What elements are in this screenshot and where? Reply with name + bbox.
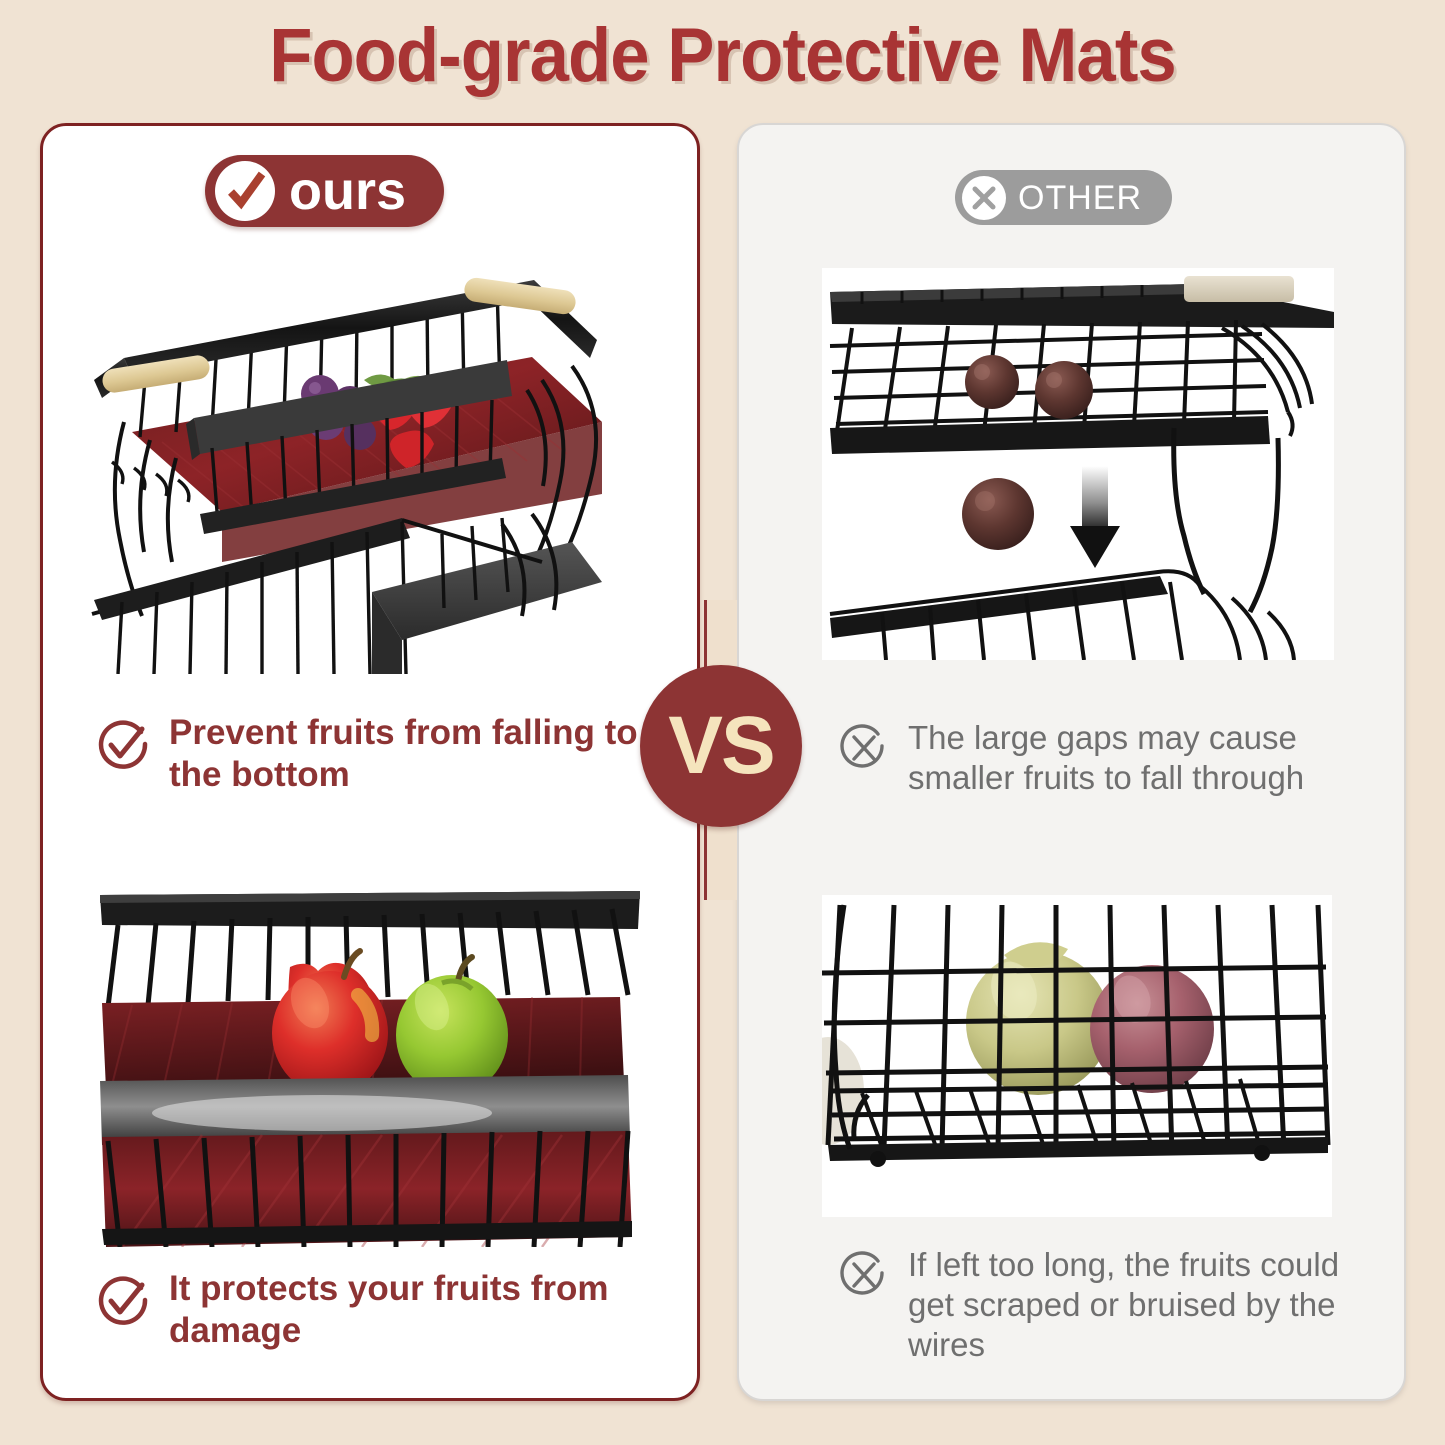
caption-protects-from-damage: It protects your fruits from damage xyxy=(95,1268,640,1352)
ours-badge: ours xyxy=(205,155,444,227)
circle-x-icon xyxy=(838,1249,890,1306)
caption-text: The large gaps may cause smaller fruits … xyxy=(908,718,1368,798)
photo-fruit-pressed-against-bare-wires xyxy=(822,895,1332,1217)
other-badge: OTHER xyxy=(955,170,1172,225)
caption-text: If left too long, the fruits could get s… xyxy=(908,1245,1368,1365)
caption-text: It protects your fruits from damage xyxy=(169,1268,640,1352)
x-icon xyxy=(962,176,1006,220)
ours-badge-label: ours xyxy=(289,164,406,218)
check-icon xyxy=(215,161,275,221)
photo-wire-basket-with-gaps-fruit-falling xyxy=(822,268,1334,660)
vs-badge: VS xyxy=(640,665,802,827)
caption-prevent-falling: Prevent fruits from falling to the botto… xyxy=(95,712,640,796)
circle-x-icon xyxy=(838,722,890,779)
circle-check-icon xyxy=(95,1272,151,1333)
circle-check-icon xyxy=(95,716,151,777)
photo-apples-resting-on-protective-mat xyxy=(72,885,648,1247)
page-title: Food-grade Protective Mats xyxy=(51,12,1395,99)
other-badge-label: OTHER xyxy=(1018,181,1142,215)
caption-large-gaps: The large gaps may cause smaller fruits … xyxy=(838,718,1368,798)
caption-text: Prevent fruits from falling to the botto… xyxy=(169,712,640,796)
photo-two-tier-wire-basket-with-red-mat xyxy=(72,262,632,674)
caption-scraped-or-bruised: If left too long, the fruits could get s… xyxy=(838,1245,1368,1365)
